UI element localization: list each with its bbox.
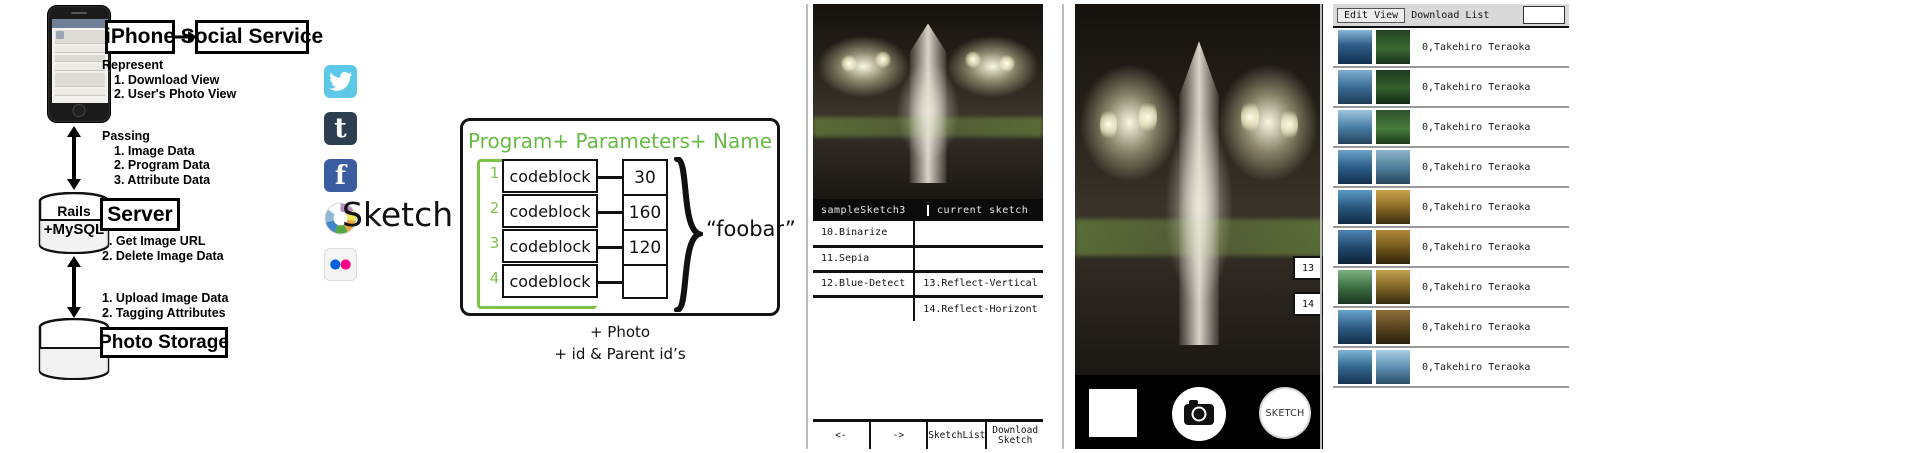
codeblock-row: 1 codeblock [488,159,598,194]
thumbnail-right [1376,150,1410,184]
sketch-button[interactable]: SKETCH [1259,387,1311,439]
thumbnail-right [1376,310,1410,344]
list-item-label: 0,Takehiro Teraoka [1410,82,1569,93]
edit-view-button[interactable]: Edit View [1337,8,1405,23]
earpiece [71,12,87,14]
list-item-label: 0,Takehiro Teraoka [1410,202,1569,213]
codeblock-cell: codeblock [502,194,598,228]
thumbnail-left [1338,310,1372,344]
thumbnail-left [1338,150,1372,184]
annotation-header: Passing [102,129,210,144]
camera-controls: SKETCH [1075,375,1323,449]
annotation-item: 1. Image Data [102,144,210,159]
sketch-list-header: sampleSketch3 current sketch [813,199,1043,221]
list-item-label: 0,Takehiro Teraoka [1410,122,1569,133]
sketch-captions: + Photo + id & Parent id’s [460,322,780,366]
phone-row [55,55,105,62]
lamp-glow [1139,100,1156,133]
list-item[interactable]: 0,Takehiro Teraoka [1333,268,1569,308]
annotation-item: 1. Get Image URL [102,234,224,249]
annotation-item: 1. Upload Image Data [102,291,228,306]
screenshot-sketch-list: sampleSketch3 current sketch 10.Binarize… [813,4,1043,449]
camera-icon [1184,404,1214,425]
table-row[interactable]: 14.Reflect-Horizont [813,296,1043,321]
side-tag-13[interactable]: 13 [1293,256,1323,280]
annotation-get-delete: 1. Get Image URL 2. Delete Image Data [102,234,224,263]
phone-navbar [52,19,108,28]
thumbnail-right [1376,70,1410,104]
codeblock-index: 3 [488,234,501,252]
codeblock-list: 1 codeblock 2 codeblock 3 codeblock 4 co… [488,159,598,299]
thumbnail-right [1376,30,1410,64]
table-row[interactable]: 10.Binarize [813,221,1043,246]
lamp-glow [1241,100,1258,133]
filter-cell[interactable] [813,296,914,321]
list-item-label: 0,Takehiro Teraoka [1410,362,1569,373]
next-button[interactable]: -> [871,422,929,449]
thumbnail-right [1376,110,1410,144]
sketch-box-title: Program+ Parameters+ Name [463,129,777,153]
central-pillar [1179,41,1219,345]
phone-row [55,46,105,53]
thumbnail-left [1338,70,1372,104]
annotation-item: 2. Delete Image Data [102,249,224,264]
download-sketch-button[interactable]: Download Sketch [987,422,1043,449]
parameter-cell: 120 [622,229,668,264]
home-button [73,104,86,117]
filter-cell[interactable]: 11.Sepia [813,246,914,271]
phone-row [55,64,105,71]
annotation-represent: Represent 1. Download View 2. User's Pho… [102,58,236,102]
annotation-item: 2. Tagging Attributes [102,306,228,321]
codeblock-row: 4 codeblock [488,264,598,299]
camera-live-view: 13 14 [1075,4,1323,375]
phone-row [55,73,105,87]
filter-cell[interactable]: 12.Blue-Detect [813,271,914,296]
thumbnail-left [1338,230,1372,264]
list-item[interactable]: 0,Takehiro Teraoka [1333,228,1569,268]
phone-screen [52,19,108,103]
filter-cell[interactable]: 14.Reflect-Horizont [914,296,1043,321]
list-item-label: 0,Takehiro Teraoka [1410,42,1569,53]
filter-cell[interactable]: 10.Binarize [813,221,914,246]
thumbnail-left [1338,110,1372,144]
list-item[interactable]: 0,Takehiro Teraoka [1333,28,1569,68]
node-photo-storage: Photo Storage [100,327,228,358]
lamp-glow [999,55,1015,73]
gallery-thumbnail-button[interactable] [1089,389,1137,437]
annotation-upload-tagging: 1. Upload Image Data 2. Tagging Attribut… [102,291,228,320]
table-row[interactable]: 12.Blue-Detect 13.Reflect-Vertical [813,271,1043,296]
codeblock-index: 2 [488,199,501,217]
annotation-header: Represent [102,58,236,73]
annotation-item: 1. Download View [102,73,236,88]
lamp-glow [1281,108,1298,141]
flickr-icon [324,248,357,281]
codeblock-row: 3 codeblock [488,229,598,264]
sketch-list-toolbar: <- -> SketchList Download Sketch [813,419,1043,449]
thumbnail-left [1338,30,1372,64]
annotation-item: 2. User's Photo View [102,87,236,102]
node-social-service: Social Service [195,20,309,54]
phone-avatar [56,31,64,39]
node-iphone: iPhone [105,20,175,54]
codeblock-cell: codeblock [502,159,598,193]
download-list-rows: 0,Takehiro Teraoka 0,Takehiro Teraoka 0,… [1333,28,1569,388]
parameter-cell: 30 [622,159,668,194]
codeblock-row: 2 codeblock [488,194,598,229]
list-item[interactable]: 0,Takehiro Teraoka [1333,188,1569,228]
filter-cell[interactable]: 13.Reflect-Vertical [914,271,1043,296]
filter-cell[interactable] [914,221,1043,246]
sketchlist-button[interactable]: SketchList [928,422,987,449]
central-pillar [910,24,947,184]
download-list-title: Download List [1409,10,1523,21]
node-server: Server [100,198,180,231]
sketch-equation: Sketch = Program+ Parameters+ Name 1 cod… [400,0,810,453]
phone-row [55,89,105,96]
sketch-definition-box: Program+ Parameters+ Name 1 codeblock 2 … [460,118,780,316]
list-item[interactable]: 0,Takehiro Teraoka [1333,308,1569,348]
codeblock-cell: codeblock [502,264,598,298]
header-sample-sketch: sampleSketch3 [813,205,929,216]
list-item[interactable]: 0,Takehiro Teraoka [1333,68,1569,108]
list-item-label: 0,Takehiro Teraoka [1410,282,1569,293]
codeblock-cell: codeblock [502,229,598,263]
shutter-button[interactable] [1172,387,1226,441]
prev-button[interactable]: <- [813,422,871,449]
thumbnail-right [1376,190,1410,224]
lamp-glow [841,55,857,73]
panel-divider [1062,4,1064,449]
navbar-white-field[interactable] [1523,6,1565,24]
thumbnail-left [1338,190,1372,224]
arrow-phone-server [65,126,83,190]
filter-cell[interactable] [914,246,1043,271]
screenshot-camera: 13 14 SKETCH [1075,4,1323,449]
tumblr-icon: t [324,112,357,145]
mirrored-photo [813,4,1043,199]
annotation-item: 2. Program Data [102,158,210,173]
list-item-label: 0,Takehiro Teraoka [1410,242,1569,253]
arrow-server-storage [65,256,83,318]
panel-divider [1320,4,1322,449]
annotation-item: 3. Attribute Data [102,173,210,188]
table-row[interactable]: 11.Sepia [813,246,1043,271]
twitter-icon [324,65,357,98]
list-item-label: 0,Takehiro Teraoka [1410,322,1569,333]
label-rails: Rails [40,203,108,219]
side-tag-14[interactable]: 14 [1293,292,1323,316]
thumbnail-right [1376,350,1410,384]
parameter-cell: 160 [622,194,668,229]
architecture-diagram: iPhone Social Service Represent 1. Downl… [0,0,400,453]
figure-root: iPhone Social Service Represent 1. Downl… [0,0,1920,453]
annotation-passing: Passing 1. Image Data 2. Program Data 3.… [102,129,210,187]
codeblock-index: 1 [488,164,501,182]
parameter-cell [622,264,668,299]
thumbnail-left [1338,350,1372,384]
header-current-sketch: current sketch [929,205,1043,216]
mirrored-photo [1075,4,1323,375]
list-item[interactable]: 0,Takehiro Teraoka [1333,348,1569,388]
list-item[interactable]: 0,Takehiro Teraoka [1333,108,1569,148]
caption-photo: + Photo [460,322,780,344]
thumbnail-right [1376,270,1410,304]
label-mysql: +MySQL [40,221,108,238]
screenshot-download-list: Edit View Download List 0,Takehiro Terao… [1333,4,1569,449]
lamp-glow [965,51,981,69]
lamp-glow [1100,108,1117,141]
download-list-navbar: Edit View Download List [1333,4,1569,28]
codeblock-index: 4 [488,269,501,287]
facebook-icon: f [324,159,357,192]
thumbnail-right [1376,230,1410,264]
sketch-name-value: “foobar” [706,217,796,241]
curly-brace [673,157,703,312]
list-item[interactable]: 0,Takehiro Teraoka [1333,148,1569,188]
lamp-glow [875,51,891,69]
list-item-label: 0,Takehiro Teraoka [1410,162,1569,173]
filter-table: 10.Binarize 11.Sepia 12.Blue-Detect 13.R… [813,221,1043,321]
sketch-preview-image [813,4,1043,199]
thumbnail-left [1338,270,1372,304]
caption-ids: + id & Parent id’s [460,344,780,366]
parameter-value-list: 30 160 120 [622,159,668,299]
